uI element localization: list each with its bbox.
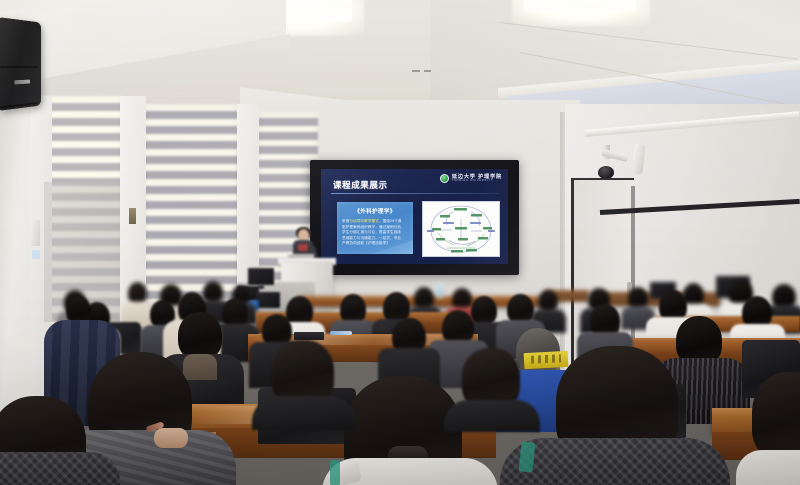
ceiling-light-panel-core (524, 0, 636, 12)
attendee-hand (154, 428, 188, 448)
ceiling-fitting (424, 70, 431, 72)
attendee-head (178, 312, 222, 360)
water-bottle (437, 283, 443, 298)
presenter-scarf (298, 244, 308, 251)
attendee-torso (444, 400, 540, 432)
slide-title-rule (331, 193, 499, 194)
wall-hook (129, 208, 136, 224)
lanyard (330, 460, 340, 485)
wall-speaker (0, 17, 41, 111)
pen (330, 331, 352, 335)
slide-title: 课程成果展示 (333, 179, 388, 191)
notebook (294, 332, 324, 340)
concept-mind-map-icon (423, 202, 499, 256)
light-switch-plate[interactable] (31, 220, 40, 246)
badge-text (531, 354, 561, 364)
attendee-torso (0, 452, 120, 485)
university-logo: 延边大学 护理学院 YANBIAN UNIVERSITY (440, 174, 502, 183)
ceiling-fitting (412, 70, 420, 72)
classroom-photo: 课程成果展示 延边大学 护理学院 YANBIAN UNIVERSITY 《外科护… (0, 0, 800, 485)
desktop-monitor (256, 292, 280, 308)
slide-textbox-body: 采用行动导向教学模式，围绕25个典型护理案例组织教学，通过案例分析、学生分组汇报… (342, 219, 408, 247)
logo-text: 延边大学 护理学院 YANBIAN UNIVERSITY (452, 175, 502, 183)
slide-body-line: 采用行动导向教学模式，围绕25个典 (342, 219, 408, 225)
desktop-monitor (248, 268, 274, 285)
display-screen: 课程成果展示 延边大学 护理学院 YANBIAN UNIVERSITY 《外科护… (321, 169, 508, 264)
slide-body-line: 学生分组汇报与讨论，提高学生临床 (342, 230, 408, 236)
attendee-torso (252, 396, 356, 430)
attendee-torso (736, 450, 800, 485)
speaker-badge (14, 80, 30, 85)
speaker-seam (0, 66, 37, 68)
slide-textbox-heading: 《外科护理学》 (337, 207, 413, 215)
slide-diagram (422, 201, 500, 257)
logo-text-en: YANBIAN UNIVERSITY (452, 180, 502, 183)
logo-mark-icon (440, 174, 449, 183)
slide-body-highlight: 行动导向教学模式 (349, 219, 379, 223)
wall-sign (32, 250, 40, 259)
